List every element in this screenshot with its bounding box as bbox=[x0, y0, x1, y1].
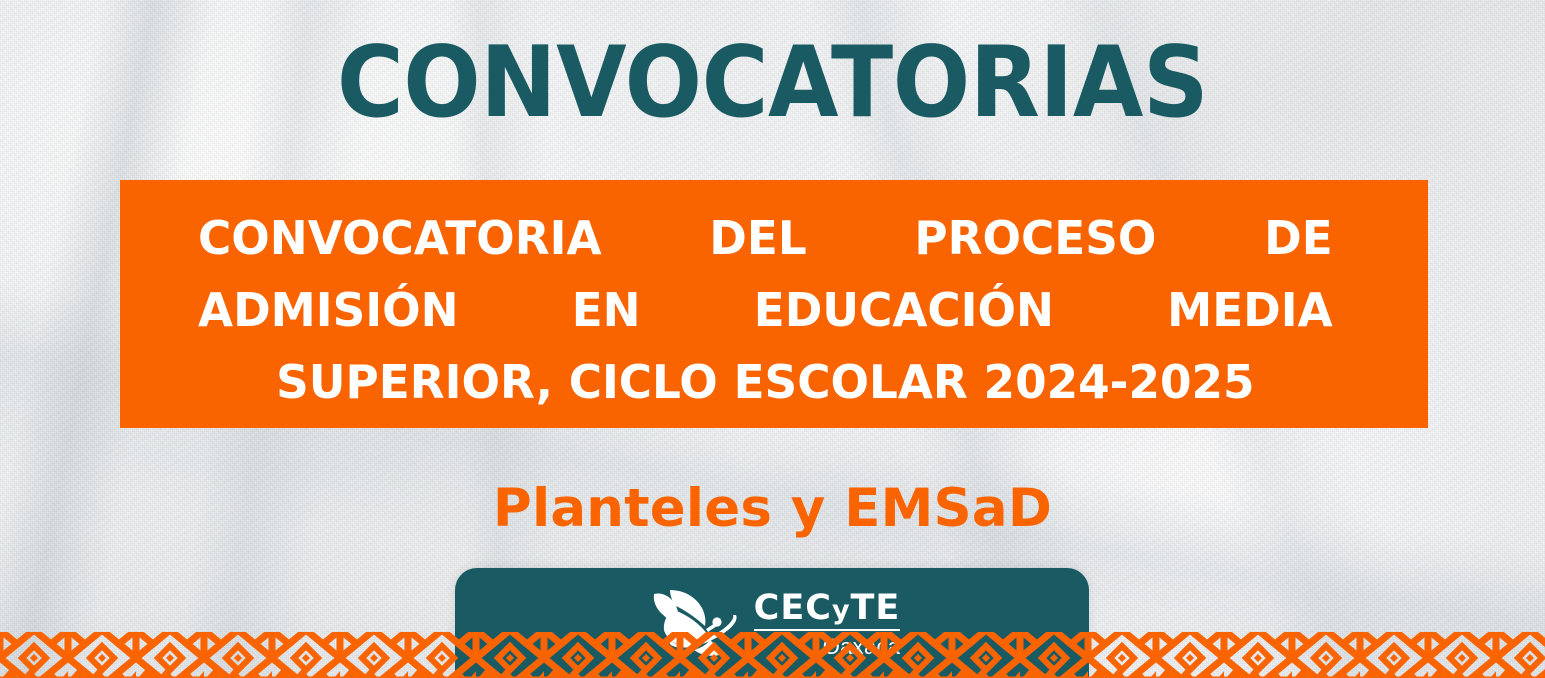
banner-word: SUPERIOR, CICLO ESCOLAR 2024-2025 bbox=[276, 346, 1254, 418]
banner-line-2: ADMISIÓN EN EDUCACIÓN MEDIA bbox=[198, 274, 1333, 346]
banner-word: MEDIA bbox=[1167, 274, 1333, 346]
greca-border bbox=[0, 632, 1545, 678]
brand-prefix: CEC bbox=[754, 588, 832, 628]
page-title: CONVOCATORIAS bbox=[54, 34, 1491, 132]
banner-word: EN bbox=[572, 274, 641, 346]
cecyte-brand-text: CECyTE bbox=[754, 591, 901, 631]
brand-suffix: TE bbox=[851, 588, 901, 628]
convocatoria-poster: CONVOCATORIAS CONVOCATORIA DEL PROCESO D… bbox=[0, 0, 1545, 678]
subtitle: Planteles y EMSaD bbox=[0, 477, 1545, 541]
banner-line-1: CONVOCATORIA DEL PROCESO DE bbox=[198, 202, 1333, 274]
banner-word: DEL bbox=[709, 202, 806, 274]
banner-word: ADMISIÓN bbox=[198, 274, 459, 346]
banner-word: CONVOCATORIA bbox=[198, 202, 602, 274]
banner-word: DE bbox=[1264, 202, 1333, 274]
brand-y: y bbox=[832, 595, 851, 626]
banner-word: PROCESO bbox=[914, 202, 1156, 274]
banner-word: EDUCACIÓN bbox=[754, 274, 1054, 346]
announcement-banner: CONVOCATORIA DEL PROCESO DE ADMISIÓN EN … bbox=[120, 180, 1428, 428]
banner-line-3: SUPERIOR, CICLO ESCOLAR 2024-2025 bbox=[198, 346, 1333, 418]
